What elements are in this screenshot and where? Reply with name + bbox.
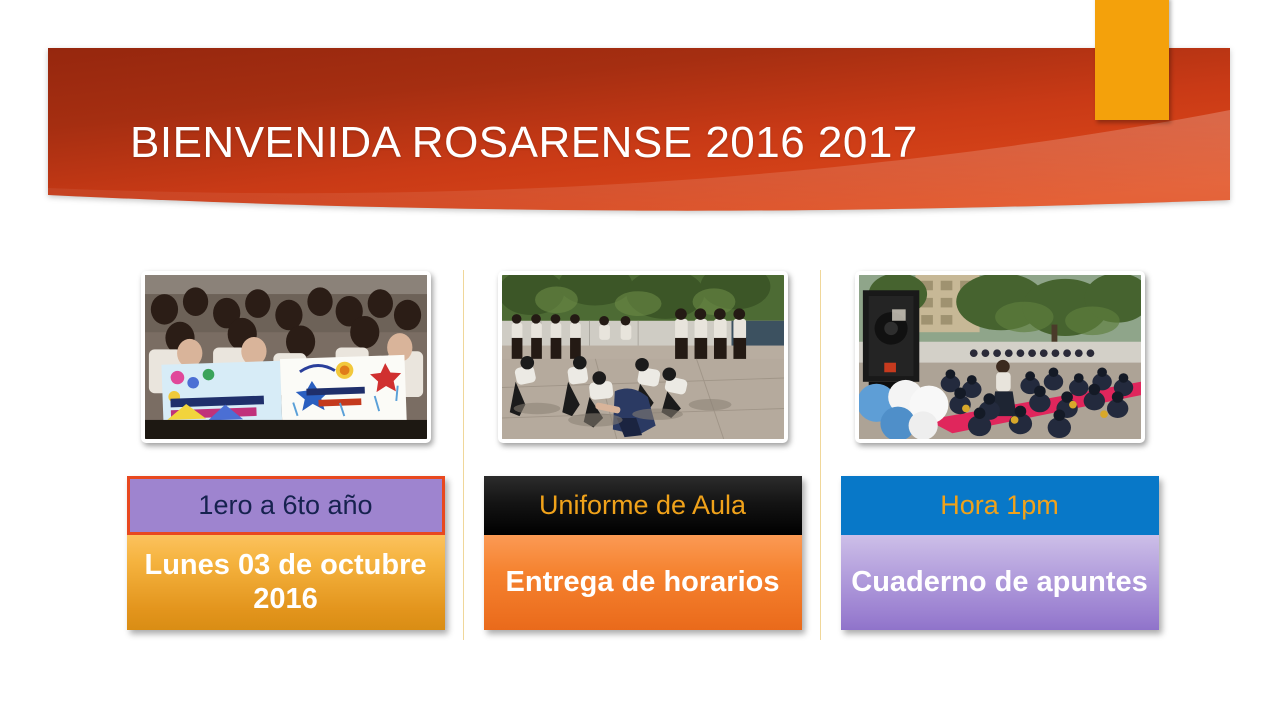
photo-students-banner — [141, 271, 431, 443]
label-group-1: 1ero a 6to año Lunes 03 de octubre 2016 — [127, 476, 445, 630]
photo-3-illustration — [859, 275, 1141, 439]
photo-students-courtyard — [498, 271, 788, 443]
content-column-3: Hora 1pm Cuaderno de apuntes — [822, 262, 1177, 652]
label-group-2: Uniforme de Aula Entrega de horarios — [484, 476, 802, 630]
label-group-3: Hora 1pm Cuaderno de apuntes — [841, 476, 1159, 630]
photo-2-illustration — [502, 275, 784, 439]
photo-1-illustration — [145, 275, 427, 439]
label-date: Lunes 03 de octubre 2016 — [127, 535, 445, 630]
label-schedule-delivery: Entrega de horarios — [484, 535, 802, 630]
accent-bar-decoration — [1095, 0, 1169, 120]
content-column-2: Uniforme de Aula Entrega de horarios — [465, 262, 820, 652]
label-grade-range: 1ero a 6to año — [127, 476, 445, 535]
label-time: Hora 1pm — [841, 476, 1159, 535]
presentation-slide: BIENVENIDA ROSARENSE 2016 2017 — [0, 0, 1280, 720]
page-title: BIENVENIDA ROSARENSE 2016 2017 — [130, 108, 1030, 178]
content-columns: 1ero a 6to año Lunes 03 de octubre 2016 — [0, 262, 1280, 652]
photo-school-assembly — [855, 271, 1145, 443]
content-column-1: 1ero a 6to año Lunes 03 de octubre 2016 — [108, 262, 463, 652]
label-uniform: Uniforme de Aula — [484, 476, 802, 535]
label-notebook: Cuaderno de apuntes — [841, 535, 1159, 630]
